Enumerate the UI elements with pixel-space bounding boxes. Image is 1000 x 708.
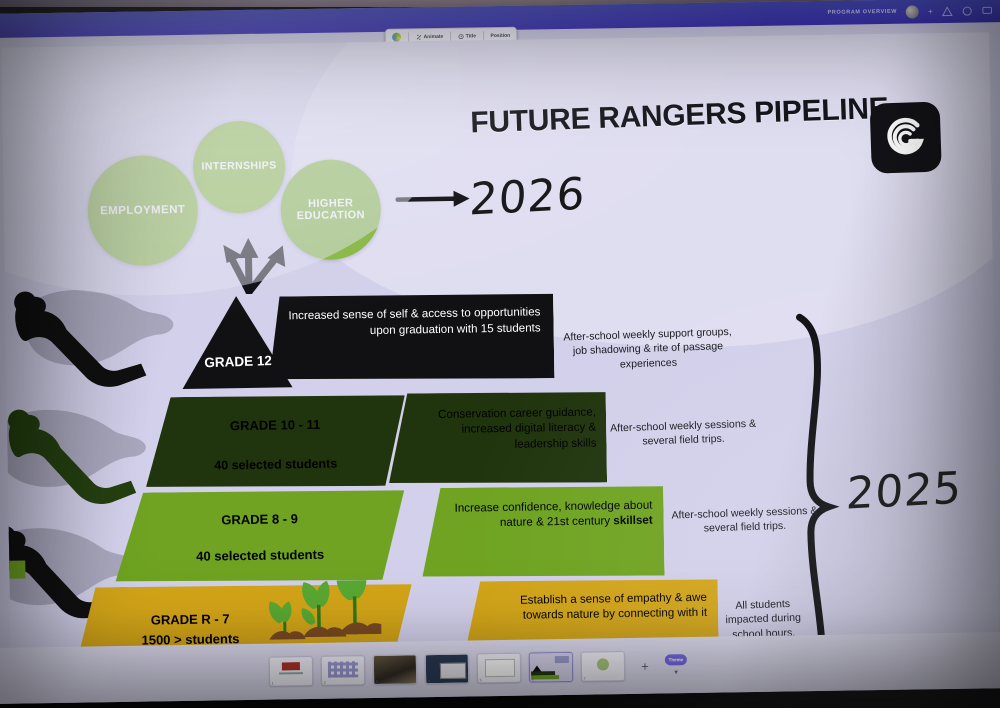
pyramid-tier-grade8-9-shape[interactable]: GRADE 8 - 9 40 selected students	[114, 489, 405, 585]
filmstrip-slide-number: 5	[480, 678, 482, 682]
pyramid-tier-grade8-9-outcome-bold: skillset	[613, 514, 653, 528]
animate-button[interactable]: Animate	[416, 33, 444, 39]
avatar[interactable]	[906, 5, 919, 18]
history-icon[interactable]	[962, 5, 973, 16]
pyramid-tier-grade10-11-students: 40 selected students	[145, 433, 406, 473]
outcome-circle-label: EMPLOYMENT	[100, 203, 185, 217]
title-button[interactable]: Title	[458, 33, 476, 39]
filmstrip-thumbnail[interactable]: 1	[269, 656, 313, 687]
filmstrip-thumbnail-selected[interactable]: 6	[529, 652, 573, 683]
filmstrip-slide-number: 2	[324, 680, 326, 684]
animate-icon	[416, 34, 422, 40]
three-arrows-icon	[182, 213, 313, 295]
title-label: Title	[466, 33, 476, 39]
laptop-screen: PROGRAM OVERVIEW + A	[0, 0, 1000, 704]
filmstrip-thumbnail[interactable]: 7	[581, 651, 625, 682]
pyramid-tier-grade12-outcome-box[interactable]: Increased sense of self & access to oppo…	[268, 292, 554, 382]
position-label: Position	[490, 32, 510, 38]
arrow-to-2026-icon	[395, 182, 477, 213]
animate-label: Animate	[424, 33, 444, 39]
brand-logo-icon	[870, 101, 942, 173]
pyramid-tier-grade10-11-grade: GRADE 10 - 11	[145, 394, 406, 435]
theme-badge[interactable]: Theme	[665, 654, 687, 665]
filmstrip-slide-number: 7	[584, 676, 586, 680]
page-title: FUTURE RANGERS PIPELINE	[470, 92, 889, 141]
outcome-circle-employment[interactable]: EMPLOYMENT	[87, 155, 199, 267]
slide-canvas[interactable]: FUTURE RANGERS PIPELINE EMPLOYMENT INTER…	[1, 32, 998, 659]
photo-of-screen: PROGRAM OVERVIEW + A	[0, 0, 1000, 708]
filmstrip-slide-number: 1	[272, 681, 274, 685]
pyramid-tier-grade8-9-outcome: Increase confidence, knowledge about nat…	[421, 484, 664, 532]
filmstrip-slide-number: 3	[376, 679, 378, 683]
filmstrip-thumbnail[interactable]: 3	[373, 654, 417, 685]
app-bar-right-controls: PROGRAM OVERVIEW +	[827, 0, 992, 25]
outcome-circle-label: HIGHER EDUCATION	[281, 197, 381, 223]
year-label-2025: 2025	[845, 463, 964, 520]
filmstrip-thumbnail[interactable]: 4	[425, 654, 469, 685]
outcome-circle-label: INTERNSHIPS	[201, 161, 276, 174]
clock-icon	[458, 33, 464, 39]
pyramid-tier-grade8-9-grade: GRADE 8 - 9	[114, 489, 405, 530]
pyramid-tier-grade10-11-shape[interactable]: GRADE 10 - 11 40 selected students	[145, 394, 406, 490]
pyramid-tier-grade8-9-students: 40 selected students	[115, 525, 406, 566]
pyramid-tier-grade10-11-outcome: Conservation career guidance, increased …	[388, 390, 607, 454]
toolbar-divider	[450, 32, 451, 41]
color-wheel-icon[interactable]	[392, 33, 401, 42]
toolbar-divider	[483, 31, 484, 40]
comment-icon[interactable]	[982, 5, 993, 16]
filmstrip-slide-number: 4	[428, 679, 430, 683]
tier-note-grade10-11: After-school weekly sessions & several f…	[603, 416, 764, 450]
add-slide-button[interactable]: +	[633, 654, 657, 678]
toolbar-divider	[408, 32, 409, 41]
tier-note-grade12: After-school weekly support groups, job …	[557, 325, 738, 374]
outcome-circle-higher-education[interactable]: HIGHER EDUCATION	[280, 159, 382, 261]
outcome-circle-internships[interactable]: INTERNSHIPS	[192, 120, 285, 213]
add-collaborator-icon[interactable]: +	[928, 7, 933, 16]
position-button[interactable]: Position	[490, 32, 510, 38]
alert-icon[interactable]	[942, 5, 953, 16]
pyramid-tier-grade8-9-outcome-box[interactable]: Increase confidence, knowledge about nat…	[421, 484, 664, 579]
tier-note-grade8-9: After-school weekly sessions & several f…	[668, 504, 821, 538]
year-label-2026: 2026	[468, 169, 587, 226]
chevron-down-icon[interactable]: ▾	[674, 668, 678, 676]
pyramid-tier-grade12-outcome: Increased sense of self & access to oppo…	[268, 292, 554, 340]
pyramid-tier-grade-r-7-outcome: Establish a sense of empathy & awe towar…	[460, 578, 719, 625]
pyramid-tier-grade-r-7-grade: GRADE R - 7	[110, 611, 270, 629]
document-name: PROGRAM OVERVIEW	[828, 9, 897, 16]
filmstrip-slide-number: 6	[532, 677, 534, 681]
filmstrip-thumbnail[interactable]: 5	[477, 653, 521, 684]
filmstrip-thumbnail[interactable]: 2	[321, 655, 365, 686]
pyramid-tier-grade10-11-outcome-box[interactable]: Conservation career guidance, increased …	[388, 390, 607, 485]
